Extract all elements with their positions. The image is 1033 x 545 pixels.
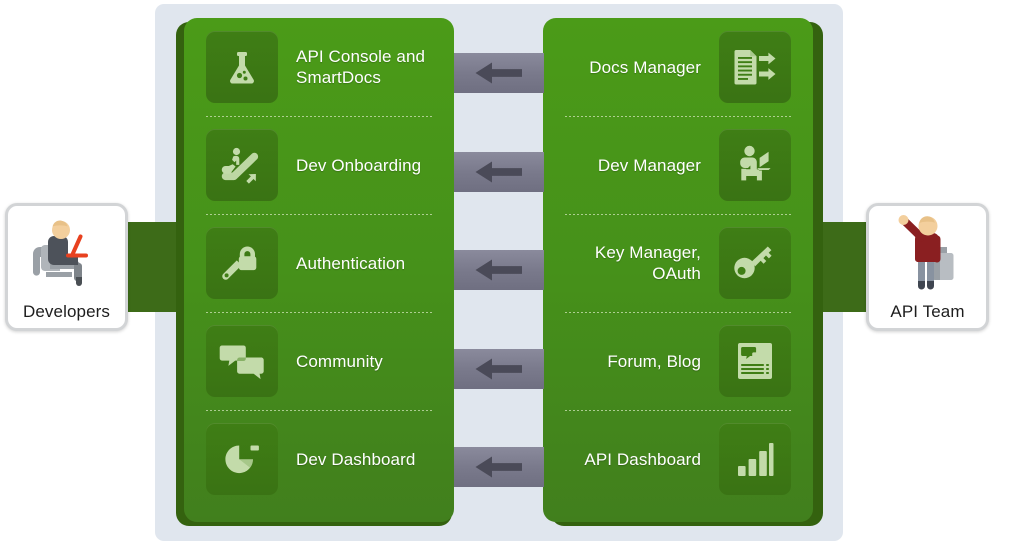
actor-api-team[interactable]: API Team — [866, 203, 989, 331]
row-key-manager[interactable]: Key Manager, OAuth — [543, 214, 813, 312]
person-at-laptop-icon — [719, 129, 791, 201]
arrow-left-icon — [470, 159, 528, 185]
escalator-icon — [206, 129, 278, 201]
arrow-docs-to-console — [454, 53, 544, 93]
api-team-person-icon — [869, 206, 986, 302]
row-api-dashboard[interactable]: API Dashboard — [543, 410, 813, 508]
right-column-panel: Docs Manager — [543, 18, 813, 522]
row-dev-onboarding[interactable]: Dev Onboarding — [184, 116, 454, 214]
key-lock-icon — [206, 227, 278, 299]
actor-label: Developers — [23, 302, 110, 322]
document-export-icon — [719, 31, 791, 103]
developer-at-desk-icon — [8, 206, 125, 302]
chat-bubbles-icon — [206, 325, 278, 397]
arrow-left-icon — [470, 60, 528, 86]
arrow-left-icon — [470, 454, 528, 480]
actor-developers[interactable]: Developers — [5, 203, 128, 331]
row-dev-dashboard[interactable]: Dev Dashboard — [184, 410, 454, 508]
row-docs-manager[interactable]: Docs Manager — [543, 18, 813, 116]
row-community[interactable]: Community — [184, 312, 454, 410]
row-label: API Dashboard — [584, 449, 701, 470]
bar-chart-icon — [719, 423, 791, 495]
flask-icon — [206, 31, 278, 103]
row-label: Dev Manager — [598, 155, 701, 176]
row-forum-blog[interactable]: Forum, Blog — [543, 312, 813, 410]
article-page-icon — [719, 325, 791, 397]
row-label: Community — [296, 351, 383, 372]
row-label: Forum, Blog — [607, 351, 701, 372]
row-label: Docs Manager — [589, 57, 701, 78]
row-label: Key Manager, OAuth — [543, 242, 701, 284]
arrow-left-icon — [470, 257, 528, 283]
row-dev-manager[interactable]: Dev Manager — [543, 116, 813, 214]
arrow-devmanager-to-onboarding — [454, 152, 544, 192]
row-label: Authentication — [296, 253, 405, 274]
key-icon — [719, 227, 791, 299]
arrow-left-icon — [470, 356, 528, 382]
arrow-keymanager-to-auth — [454, 250, 544, 290]
row-label: API Console and SmartDocs — [296, 46, 454, 88]
arrow-forum-to-community — [454, 349, 544, 389]
left-column-panel: API Console and SmartDocs Dev Onboarding — [184, 18, 454, 522]
diagram-canvas: API Console and SmartDocs Dev Onboarding — [0, 0, 1033, 545]
actor-label: API Team — [890, 302, 964, 322]
row-label: Dev Dashboard — [296, 449, 415, 470]
row-api-console[interactable]: API Console and SmartDocs — [184, 18, 454, 116]
row-label: Dev Onboarding — [296, 155, 421, 176]
row-authentication[interactable]: Authentication — [184, 214, 454, 312]
arrow-apidashboard-to-devdashboard — [454, 447, 544, 487]
pie-chart-icon — [206, 423, 278, 495]
